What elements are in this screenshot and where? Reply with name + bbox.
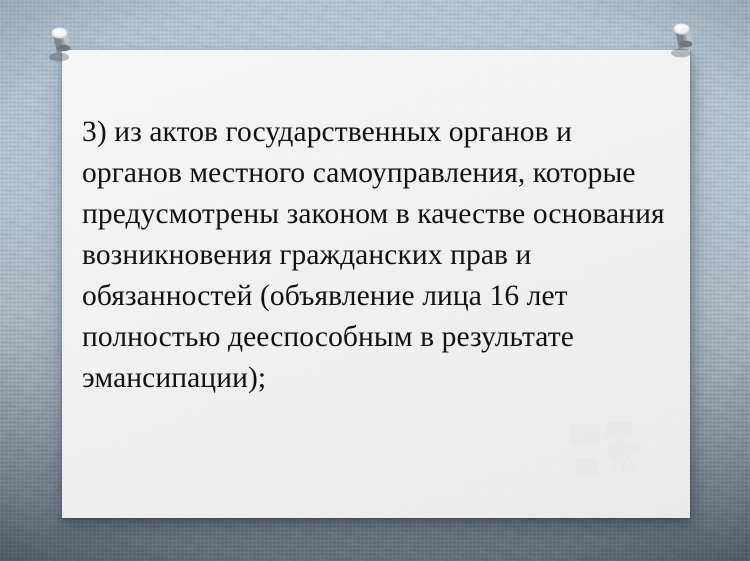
pushpin-top-left-icon (44, 24, 78, 64)
paper-sheet: 3) из актов государственных органов и ор… (62, 50, 690, 518)
pushpin-top-right-icon (666, 20, 700, 60)
slide-body-text: 3) из актов государственных органов и ор… (82, 112, 672, 399)
presentation-slide: 3) из актов государственных органов и ор… (0, 0, 750, 561)
